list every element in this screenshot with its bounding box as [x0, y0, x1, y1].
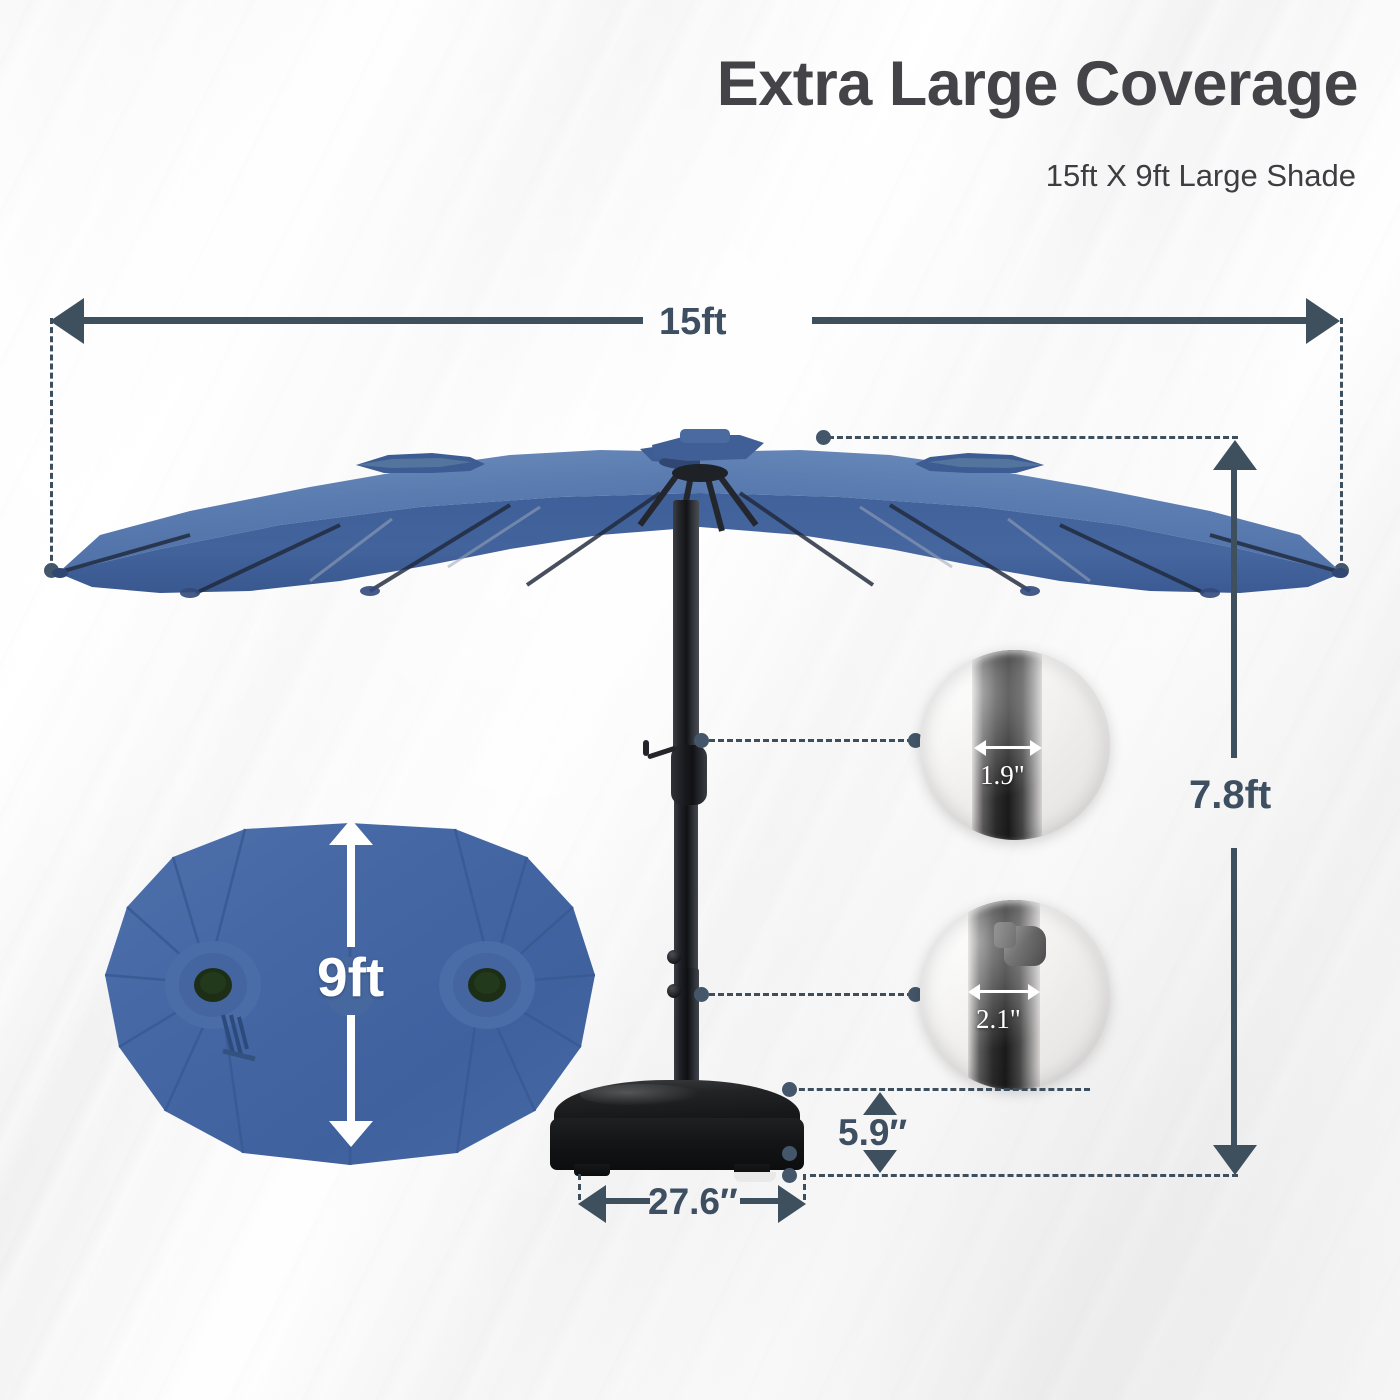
- width-label: 15ft: [659, 301, 727, 344]
- callout-pole-lower-diameter: 2.1": [920, 900, 1110, 1090]
- height-shaft-upper: [1231, 468, 1237, 758]
- top-hub-left: [165, 941, 261, 1029]
- callout-leader-lower: [700, 993, 922, 996]
- crank-housing: [671, 745, 707, 805]
- depth-label: 9ft: [317, 945, 384, 1009]
- callout-pole-upper-diameter: 1.9": [920, 650, 1110, 840]
- pole-middle-section: [674, 775, 698, 975]
- hub-collar: [672, 464, 728, 482]
- callout-label-lower: 2.1": [976, 1004, 1021, 1035]
- canopy-right: [700, 450, 1348, 598]
- base-height-anchor-top: [782, 1082, 797, 1097]
- base-height-guide-top: [790, 1088, 1090, 1091]
- base-height-arrowhead-bottom: [863, 1150, 897, 1173]
- base-width-arrowhead-right: [778, 1185, 806, 1223]
- pole-pin-upper: [667, 950, 681, 964]
- height-arrowhead-bottom: [1213, 1145, 1257, 1175]
- callout-lens-rim-lower: [920, 900, 1110, 1090]
- base-width-label: 27.6″: [648, 1181, 738, 1223]
- top-hub-right: [439, 941, 535, 1029]
- callout-lens-rim-upper: [920, 650, 1110, 840]
- callout-label-upper: 1.9": [980, 760, 1025, 791]
- height-anchor-top: [816, 430, 831, 445]
- height-label: 7.8ft: [1189, 773, 1271, 818]
- canopy-center-hub: [652, 429, 764, 461]
- base-foot-pad: [734, 1172, 776, 1182]
- base-width-shaft-right: [740, 1198, 780, 1204]
- height-shaft-lower: [1231, 848, 1237, 1145]
- height-guide-top: [828, 436, 1238, 439]
- callout-arrow-right-upper: [1030, 740, 1042, 756]
- width-arrowhead-left: [50, 298, 84, 344]
- depth-shaft-lower: [347, 1015, 355, 1123]
- base-height-anchor-bottom2: [782, 1168, 797, 1183]
- callout-arrow-shaft-lower: [978, 990, 1034, 993]
- center-pole: [665, 500, 711, 1140]
- umbrella-top-view: 9ft: [95, 815, 605, 1175]
- base-width-arrowhead-left: [578, 1185, 606, 1223]
- crank-knob: [643, 740, 649, 756]
- pole-pin-lower: [667, 984, 681, 998]
- callout-arrow-right-lower: [1028, 984, 1040, 1000]
- depth-shaft-upper: [347, 839, 355, 947]
- depth-arrowhead-bottom: [329, 1121, 373, 1147]
- height-arrowhead-top: [1213, 440, 1257, 470]
- page-subtitle: 15ft X 9ft Large Shade: [0, 158, 1356, 194]
- width-shaft-right: [812, 317, 1307, 324]
- callout-leader-lower-dot-left: [694, 987, 709, 1002]
- infographic-canvas: Extra Large Coverage 15ft X 9ft Large Sh…: [0, 0, 1400, 1400]
- base-height-anchor-bottom: [782, 1146, 797, 1161]
- canopy-left: [52, 443, 756, 598]
- width-shaft-left: [83, 317, 643, 324]
- base-width-shaft-left: [605, 1198, 650, 1204]
- depth-arrowhead-top: [329, 819, 373, 845]
- callout-leader-upper: [700, 739, 922, 742]
- width-arrowhead-right: [1306, 298, 1340, 344]
- page-title: Extra Large Coverage: [0, 48, 1358, 120]
- callout-leader-upper-dot-left: [694, 733, 709, 748]
- height-guide-bottom: [810, 1174, 1238, 1177]
- base-height-label: 5.9″: [838, 1112, 907, 1154]
